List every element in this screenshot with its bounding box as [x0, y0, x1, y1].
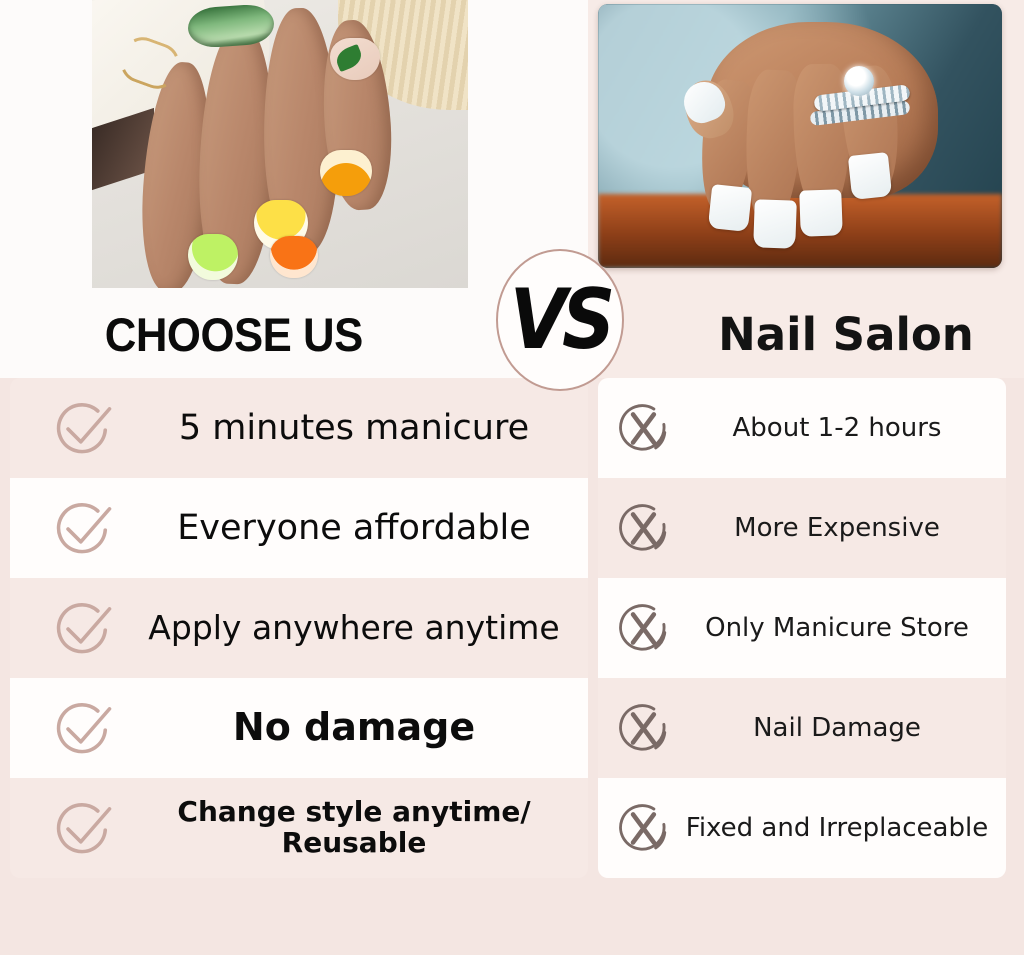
table-row: 5 minutes manicure [10, 378, 588, 478]
citrus-nail-art-photo [92, 0, 468, 288]
table-row: Fixed and Irreplaceable [598, 778, 1006, 878]
vs-label: VS [510, 279, 611, 362]
row-label: 5 minutes manicure [126, 409, 588, 448]
photo-band [0, 0, 1024, 296]
x-circle-icon [614, 799, 672, 857]
comparison-table: 5 minutes manicure Everyone affordable [0, 378, 1024, 938]
row-label: No damage [126, 707, 588, 749]
table-row: Apply anywhere anytime [10, 578, 588, 678]
vs-badge: VS [496, 249, 624, 391]
x-circle-icon [614, 399, 672, 457]
x-circle-icon [614, 499, 672, 557]
nail-salon-column: About 1-2 hours More Expensive [598, 378, 1006, 878]
x-circle-icon [614, 699, 672, 757]
x-circle-icon [614, 599, 672, 657]
check-circle-icon [50, 494, 118, 562]
white-nails-photo [598, 4, 1002, 268]
table-row: Only Manicure Store [598, 578, 1006, 678]
row-label: Only Manicure Store [676, 614, 1006, 643]
table-row: Everyone affordable [10, 478, 588, 578]
choose-us-title: CHOOSE US [105, 307, 363, 362]
check-circle-icon [50, 594, 118, 662]
check-circle-icon [50, 394, 118, 462]
bottom-spacer [0, 938, 1024, 955]
row-label: Change style anytime/ Reusable [126, 797, 588, 859]
row-label: Apply anywhere anytime [126, 610, 588, 646]
table-row: Change style anytime/ Reusable [10, 778, 588, 878]
row-label: Everyone affordable [126, 509, 588, 548]
nail-salon-title: Nail Salon [718, 308, 974, 361]
table-row: About 1-2 hours [598, 378, 1006, 478]
choose-us-column: 5 minutes manicure Everyone affordable [10, 378, 588, 878]
table-row: Nail Damage [598, 678, 1006, 778]
comparison-infographic: CHOOSE US Nail Salon VS 5 minutes manicu… [0, 0, 1024, 955]
row-label: More Expensive [676, 514, 1006, 543]
row-label: About 1-2 hours [676, 414, 1006, 443]
row-label: Nail Damage [676, 714, 1006, 743]
check-circle-icon [50, 694, 118, 762]
right-column-header: Nail Salon [588, 288, 1024, 380]
check-circle-icon [50, 794, 118, 862]
table-row: More Expensive [598, 478, 1006, 578]
row-label: Fixed and Irreplaceable [676, 814, 1006, 843]
table-row: No damage [10, 678, 588, 778]
